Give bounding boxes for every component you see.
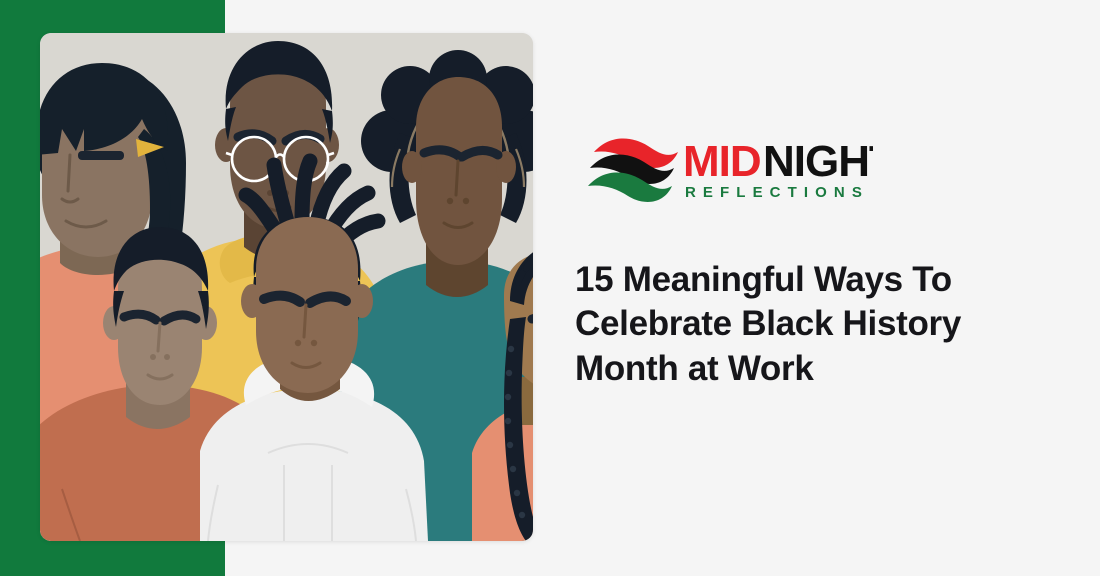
logo-word-mid: MID xyxy=(683,137,761,186)
illustration-card xyxy=(40,33,533,541)
midnight-reflections-logo[interactable]: MID NIGHT REFLECTIONS xyxy=(588,128,873,203)
logo-word-night: NIGHT xyxy=(763,137,873,186)
group-portrait-illustration xyxy=(40,33,533,541)
logo-tagline: REFLECTIONS xyxy=(685,184,869,201)
hero-left-visual xyxy=(0,0,560,576)
logo-svg: MID NIGHT REFLECTIONS xyxy=(588,128,873,203)
hero-right-content: MID NIGHT REFLECTIONS 15 Meaningful Ways… xyxy=(575,0,1045,576)
article-title: 15 Meaningful Ways To Celebrate Black Hi… xyxy=(575,258,975,391)
three-wave-ribbon-mark xyxy=(588,138,678,202)
